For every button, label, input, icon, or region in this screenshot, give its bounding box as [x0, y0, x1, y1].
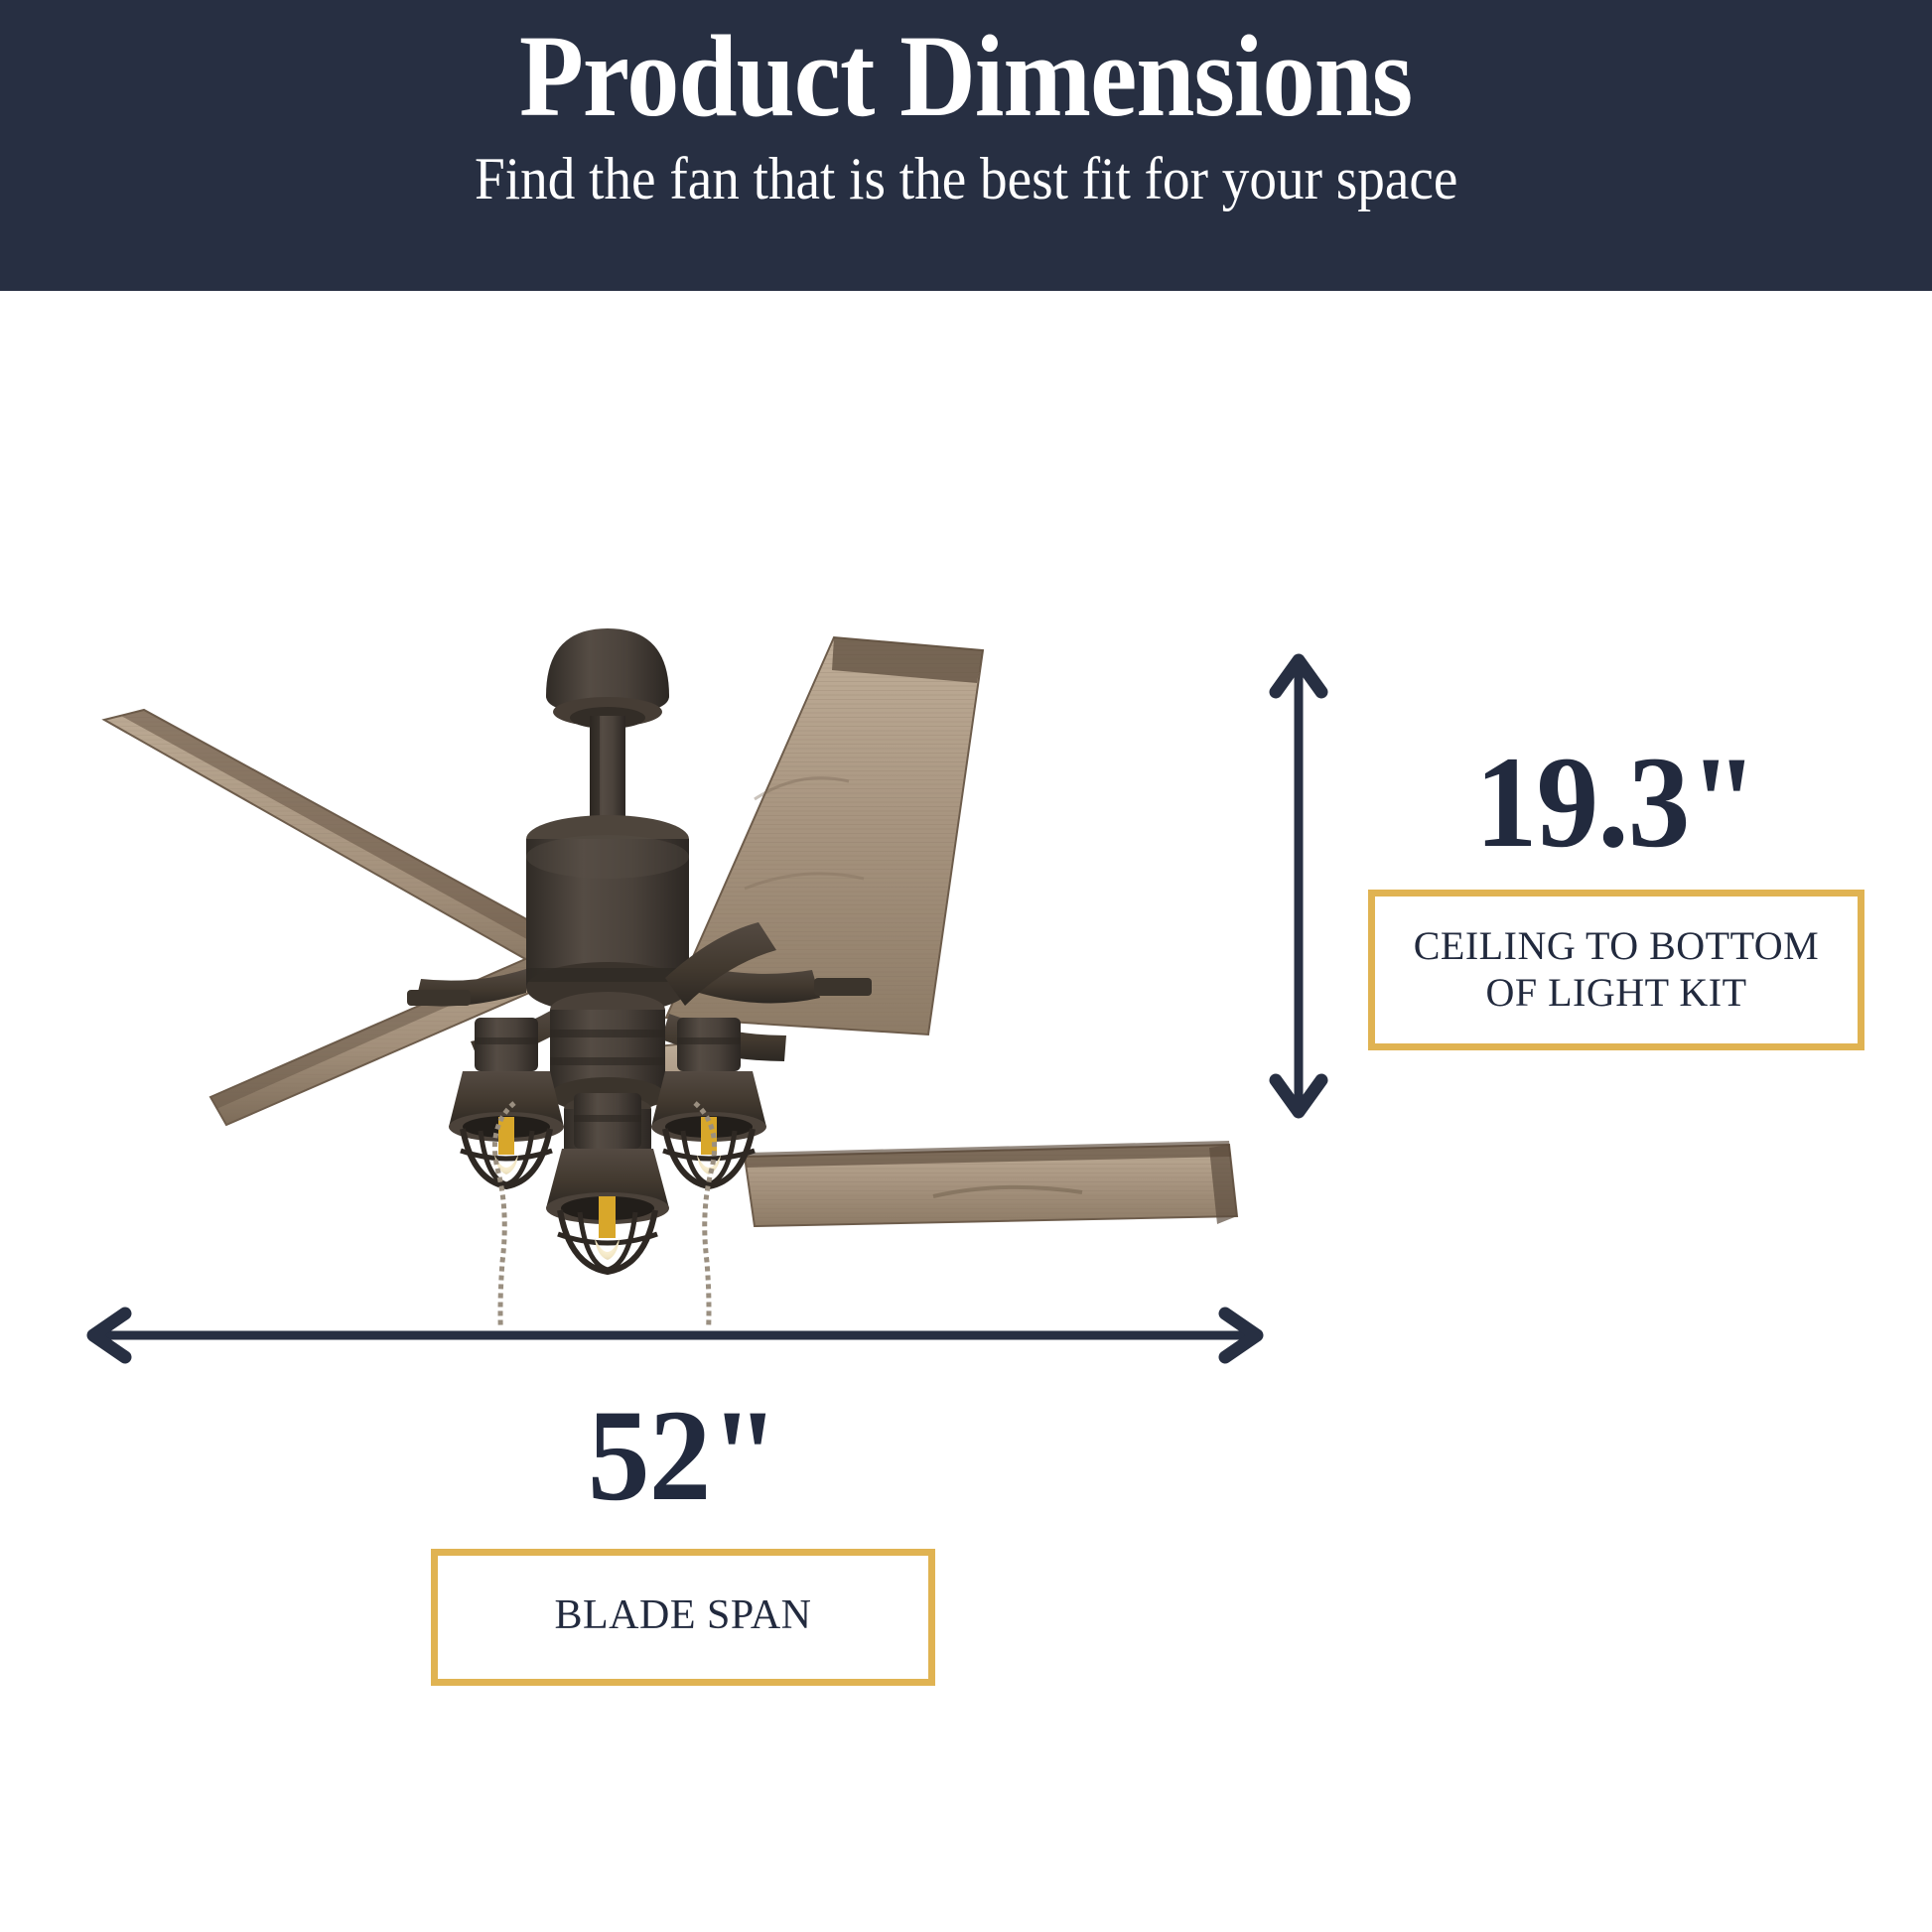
vertical-double-arrow-icon: [1259, 650, 1338, 1122]
span-label-line-1: BLADE SPAN: [448, 1591, 918, 1641]
height-label-line-2: OF LIGHT KIT: [1385, 969, 1848, 1016]
ceiling-fan-image: [60, 541, 1281, 1325]
fan-motor-housing: [526, 815, 689, 1014]
height-value: 19.3": [1381, 737, 1853, 868]
height-callout: 19.3" CEILING TO BOTTOM OF LIGHT KIT: [1368, 737, 1864, 1050]
page-title: Product Dimensions: [519, 14, 1412, 138]
light-fixture-left: [449, 1018, 564, 1186]
height-dimension-arrow: [1259, 650, 1338, 1122]
page-subtitle: Find the fan that is the best fit for yo…: [475, 146, 1457, 211]
span-value: 52": [444, 1390, 923, 1521]
span-callout: 52" BLADE SPAN: [431, 1390, 935, 1686]
span-dimension-arrow: [79, 1301, 1271, 1370]
height-label-line-1: CEILING TO BOTTOM: [1385, 922, 1848, 969]
ceiling-fan-svg: [60, 541, 1281, 1325]
span-label-box: BLADE SPAN: [431, 1549, 935, 1686]
header-banner: Product Dimensions Find the fan that is …: [0, 0, 1932, 291]
fan-blade-right: [745, 1141, 1237, 1226]
fan-canopy: [546, 628, 669, 729]
height-label-box: CEILING TO BOTTOM OF LIGHT KIT: [1368, 890, 1864, 1050]
product-dimensions-infographic: Product Dimensions Find the fan that is …: [0, 0, 1932, 1932]
horizontal-double-arrow-icon: [79, 1301, 1271, 1370]
